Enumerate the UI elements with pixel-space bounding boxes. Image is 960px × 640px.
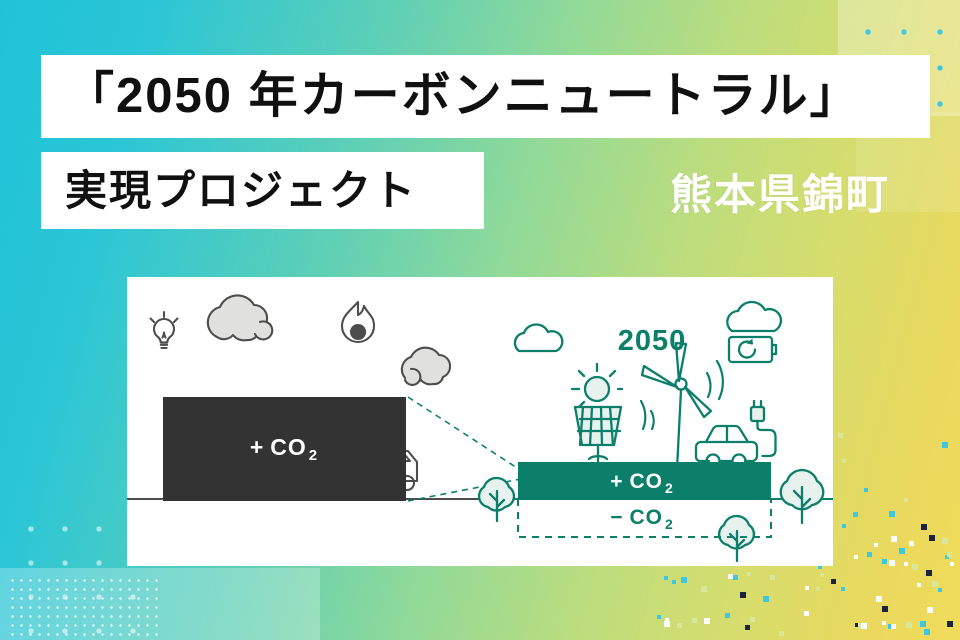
confetti-dot <box>747 572 751 576</box>
confetti-dot <box>831 579 836 584</box>
future-emit-sign: + <box>610 470 623 493</box>
future-absorb-text: CO <box>629 506 663 529</box>
confetti-dot <box>740 592 746 598</box>
confetti-dot <box>728 574 733 579</box>
page-title-line1: 「2050 年カーボンニュートラル」 <box>41 72 861 121</box>
confetti-dot <box>932 581 938 587</box>
future-absorb-label: −CO2 <box>610 506 674 532</box>
future-emit-sub: 2 <box>665 480 674 496</box>
confetti-dot <box>804 611 809 616</box>
confetti-dot <box>950 562 954 566</box>
future-absorb-sign: − <box>610 506 623 529</box>
wind-turbine-icon <box>641 343 723 471</box>
confetti-dot <box>733 575 738 580</box>
confetti-dot <box>899 548 905 554</box>
confetti-dot <box>912 564 918 570</box>
confetti-dot <box>779 631 784 636</box>
confetti-dot <box>904 498 908 502</box>
confetti-dot <box>921 524 927 530</box>
confetti-dot <box>841 587 845 591</box>
confetti-dot <box>838 433 843 438</box>
region-label: 熊本県錦町 <box>655 160 905 222</box>
confetti-dot <box>701 586 707 592</box>
smoke-cloud-icon <box>208 295 272 340</box>
confetti-dot <box>842 459 846 463</box>
present-co2-text: CO <box>270 434 307 460</box>
confetti-dot <box>882 606 888 612</box>
confetti-dot <box>947 621 953 627</box>
confetti-dot <box>938 588 942 592</box>
confetti-dot <box>906 622 912 628</box>
confetti-dot <box>692 618 697 623</box>
confetti-dot <box>882 559 887 564</box>
confetti-dot <box>665 618 669 622</box>
confetti-dot <box>861 623 867 629</box>
solar-panel-icon <box>572 364 622 476</box>
tree-icon <box>719 516 754 561</box>
confetti-dot <box>876 596 882 602</box>
confetti-dot <box>867 552 872 557</box>
confetti-dot <box>725 613 730 618</box>
cloud-icon <box>727 302 781 331</box>
confetti-dot <box>816 587 820 591</box>
zoom-connector-lines <box>408 397 531 501</box>
confetti-dot <box>672 580 676 584</box>
page-title-line2: 実現プロジェクト <box>41 170 417 212</box>
confetti-dot <box>681 577 687 583</box>
confetti-dot <box>864 488 868 492</box>
tree-icon <box>781 470 824 523</box>
present-emission-block: +CO2 <box>163 397 406 501</box>
confetti-dot <box>853 512 858 517</box>
confetti-dot <box>924 629 930 635</box>
confetti-dot <box>677 623 682 628</box>
lightbulb-icon <box>151 312 178 348</box>
confetti-dot <box>889 560 895 566</box>
future-emission-block: +CO2 <box>518 462 771 499</box>
flame-icon <box>342 302 374 342</box>
confetti-dot <box>891 624 896 629</box>
poster-canvas: 「2050 年カーボンニュートラル」 実現プロジェクト 熊本県錦町 <box>0 0 960 640</box>
confetti-dot <box>745 625 750 630</box>
confetti-dot <box>904 562 908 566</box>
confetti-dot <box>920 621 926 627</box>
confetti-dot <box>854 555 858 559</box>
ev-charging-car-icon <box>696 401 776 468</box>
title-banner-secondary: 実現プロジェクト <box>41 152 484 229</box>
confetti-dot <box>926 570 932 576</box>
confetti-dot <box>704 618 710 624</box>
confetti-dot <box>657 615 661 619</box>
future-emit-text: CO <box>629 470 663 493</box>
confetti-dot <box>942 442 948 448</box>
confetti-dot <box>770 575 775 580</box>
rechargeable-battery-icon <box>729 337 776 362</box>
confetti-dot <box>929 535 935 541</box>
confetti-dot <box>763 596 769 602</box>
confetti-dot <box>889 511 895 517</box>
confetti-dot <box>664 621 670 627</box>
cloud-icon <box>515 324 562 351</box>
present-co2-sign: + <box>250 434 264 460</box>
confetti-dot <box>882 621 886 625</box>
confetti-dot <box>874 543 878 547</box>
smoke-cloud-icon <box>402 348 450 385</box>
fine-dot-grid-bottom-left <box>8 576 158 640</box>
confetti-dot <box>909 541 914 546</box>
confetti-dot <box>927 607 933 613</box>
confetti-dot <box>947 552 952 557</box>
confetti-dot <box>750 617 755 622</box>
confetti-dot <box>805 586 809 590</box>
present-co2-sub: 2 <box>309 447 318 464</box>
future-absorb-sub: 2 <box>665 516 674 532</box>
confetti-dot <box>917 583 921 587</box>
tree-icon <box>479 478 514 521</box>
illustration-panel: +CO2 2050 <box>127 277 833 566</box>
title-banner-primary: 「2050 年カーボンニュートラル」 <box>41 55 930 138</box>
confetti-dot <box>820 573 824 577</box>
confetti-dot <box>842 524 846 528</box>
confetti-dot <box>891 536 897 542</box>
confetti-dot <box>664 576 668 580</box>
confetti-dot <box>942 538 948 544</box>
